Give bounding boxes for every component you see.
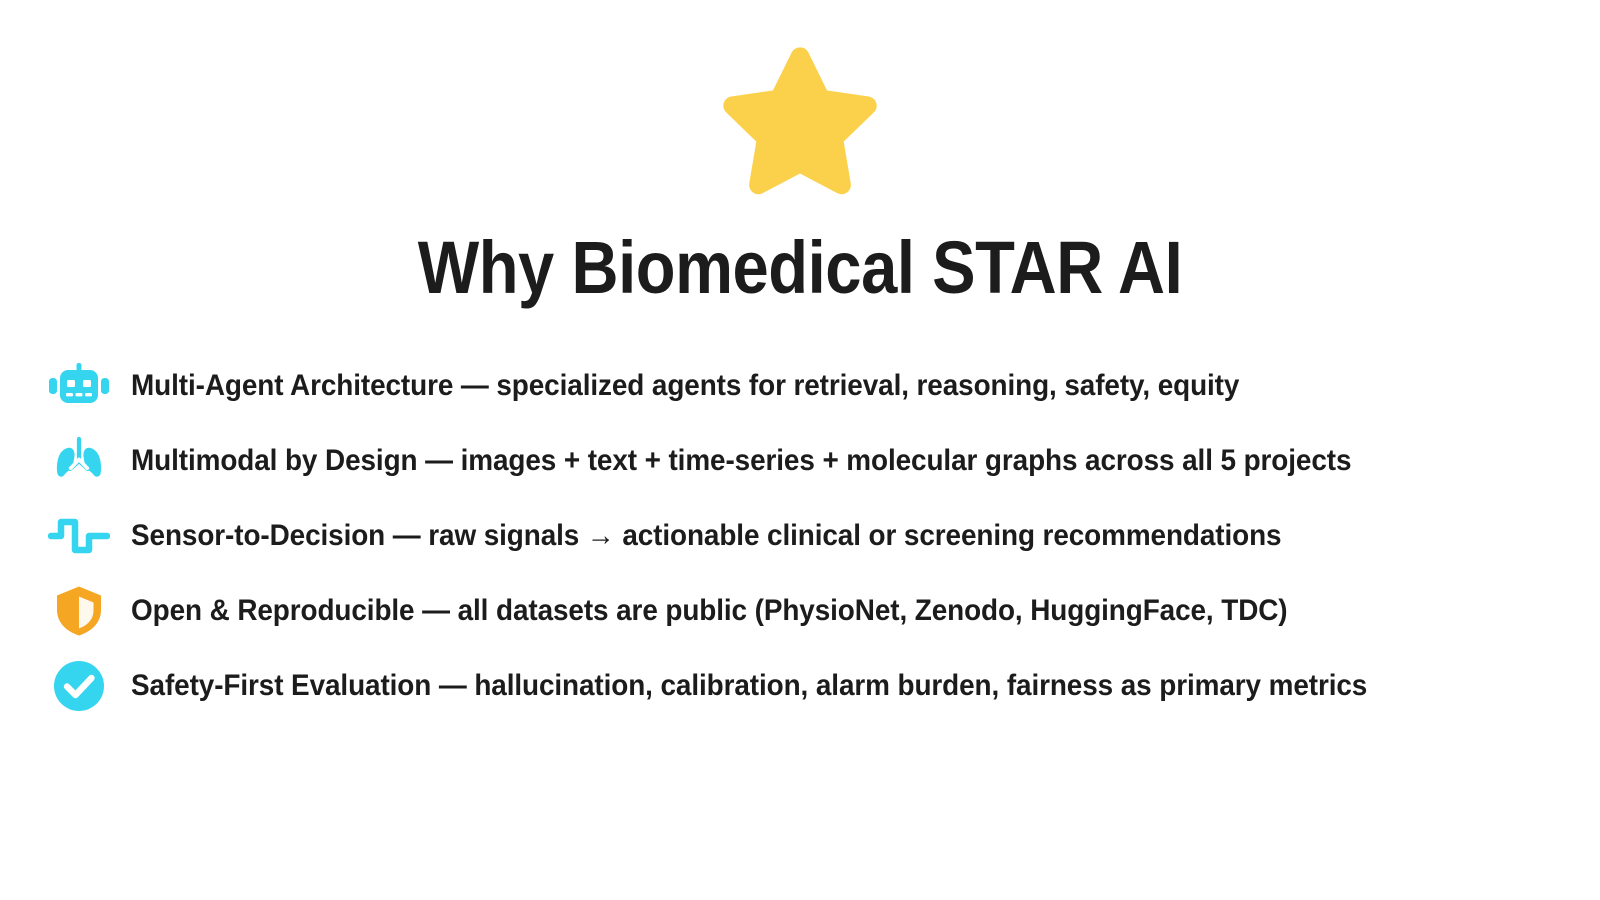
list-item-label: Multimodal by Design — images + text + t…: [118, 444, 1459, 477]
lungs-icon: [40, 432, 118, 490]
list-item-label: Open & Reproducible — all datasets are p…: [118, 594, 1459, 627]
list-item: Sensor-to-Decision — raw signals → actio…: [40, 498, 1560, 573]
feature-list: Multi-Agent Architecture — specialized a…: [40, 348, 1560, 723]
star-icon: [710, 38, 890, 210]
page-title: Why Biomedical STAR AI: [96, 228, 1504, 308]
shield-icon: [40, 582, 118, 640]
list-item-label: Sensor-to-Decision — raw signals → actio…: [118, 519, 1459, 552]
hero-star-container: [0, 38, 1600, 210]
check-circle-icon: [40, 657, 118, 715]
square-wave-signal-icon: [40, 507, 118, 565]
list-item: Open & Reproducible — all datasets are p…: [40, 573, 1560, 648]
list-item: Multi-Agent Architecture — specialized a…: [40, 348, 1560, 423]
list-item-label: Safety-First Evaluation — hallucination,…: [118, 669, 1459, 702]
slide-root: Why Biomedical STAR AI: [0, 0, 1600, 900]
list-item: Multimodal by Design — images + text + t…: [40, 423, 1560, 498]
list-item: Safety-First Evaluation — hallucination,…: [40, 648, 1560, 723]
robot-icon: [40, 357, 118, 415]
list-item-label: Multi-Agent Architecture — specialized a…: [118, 369, 1459, 402]
